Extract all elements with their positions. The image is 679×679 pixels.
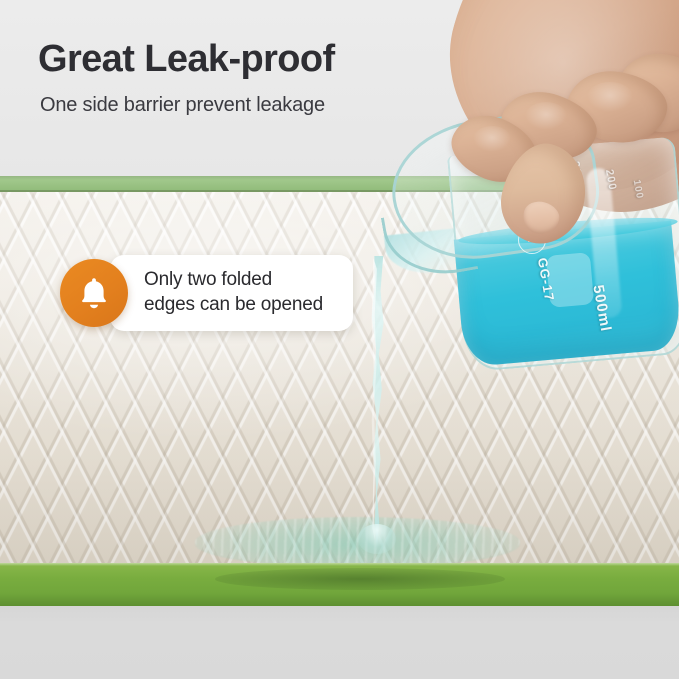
page-subtitle: One side barrier prevent leakage [40, 94, 325, 117]
knuckle-highlight-2 [525, 102, 567, 130]
knuckle-highlight-1 [473, 126, 511, 152]
hand [455, 60, 679, 260]
bell-badge [60, 259, 128, 327]
knuckle-highlight-3 [587, 82, 633, 112]
page-title: Great Leak-proof [38, 40, 335, 80]
water-splash-tip [358, 524, 396, 554]
callout-bubble: Only two folded edges can be opened [110, 255, 353, 331]
product-marketing-image: 500 APPROX 300 200 100 GG-17 500ml ☷ [0, 0, 679, 679]
floor-background [0, 606, 679, 679]
green-barrier-wet-patch [215, 568, 505, 590]
callout-text-line-1: Only two folded [144, 268, 323, 293]
bell-icon [77, 275, 111, 311]
mat-bottom-green-barrier [0, 563, 679, 606]
feature-callout: Only two folded edges can be opened [60, 255, 353, 331]
callout-text-line-2: edges can be opened [144, 293, 323, 318]
